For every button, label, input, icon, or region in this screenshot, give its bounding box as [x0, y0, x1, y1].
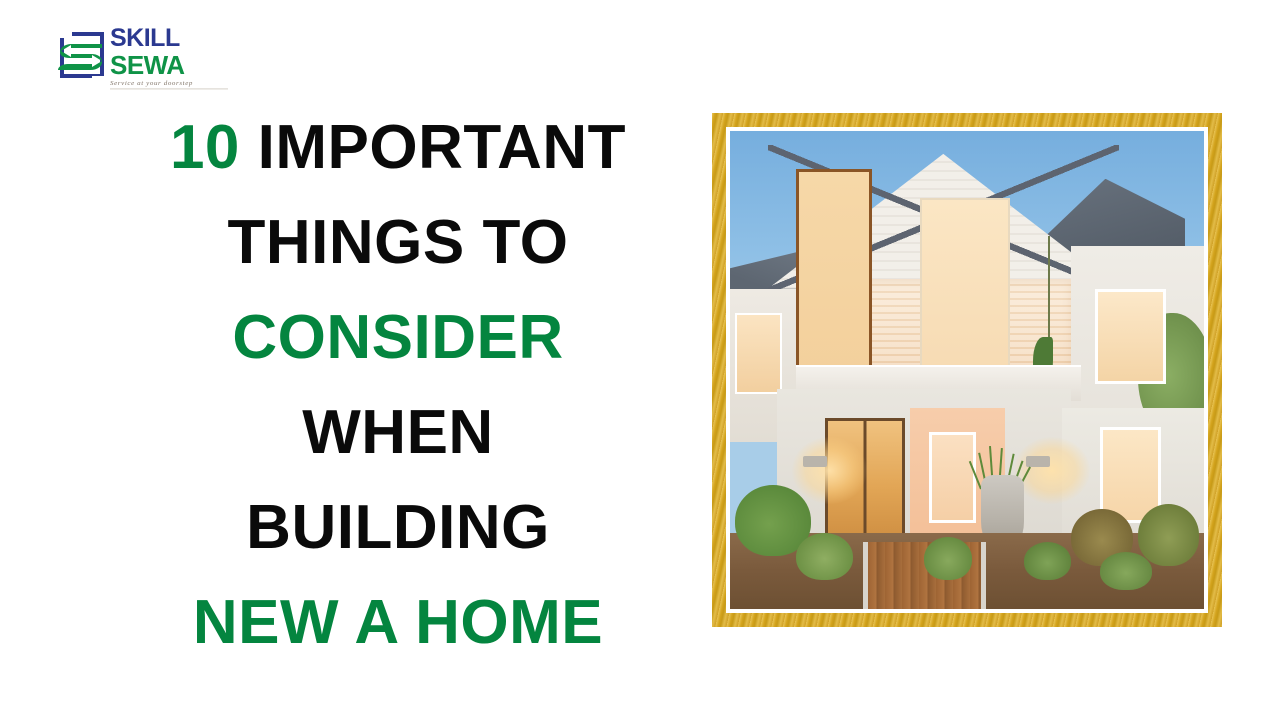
headline-line-3: CONSIDER [96, 290, 700, 385]
headline-line-5: BUILDING [96, 480, 700, 575]
sconce-glow-left [792, 437, 868, 504]
shrub-center [924, 537, 971, 580]
shrub-left-2 [796, 533, 853, 581]
shrub-right-2 [1138, 504, 1200, 566]
upper-window-right [1095, 289, 1166, 385]
photo-inner-border [726, 127, 1208, 613]
upper-window-left [735, 313, 782, 394]
logo-tagline: Service at your doorstep [110, 80, 228, 89]
entry-window [929, 432, 976, 523]
logo-bracket-notch-top [56, 30, 72, 38]
skillsewa-s-logo-icon [56, 30, 108, 84]
shrub-center-2 [1024, 542, 1071, 580]
headline-line-1: 10 IMPORTANT [96, 100, 700, 195]
logo-word-skill: SKILL [110, 26, 236, 51]
house-photo [730, 131, 1204, 609]
photo-gold-frame [712, 113, 1222, 627]
logo-wordmark: SKILL SEWA Service at your doorstep [110, 26, 236, 91]
logo-bracket-notch-bottom [92, 76, 108, 84]
headline-line-6: NEW A HOME [96, 575, 700, 670]
logo-s-glyph-icon [58, 42, 104, 72]
logo-word-sewa: SEWA [110, 52, 236, 78]
headline-number: 10 [170, 113, 240, 182]
headline-word-important: IMPORTANT [240, 113, 626, 182]
headline-block: 10 IMPORTANT THINGS TO CONSIDER WHEN BUI… [96, 100, 700, 670]
wall-sconce-left [803, 456, 827, 467]
shrub-right-3 [1100, 552, 1152, 590]
headline-line-4: WHEN [96, 385, 700, 480]
brand-logo: SKILL SEWA Service at your doorstep [56, 26, 236, 98]
headline-line-2: THINGS TO [96, 195, 700, 290]
wall-sconce-right [1026, 456, 1050, 467]
